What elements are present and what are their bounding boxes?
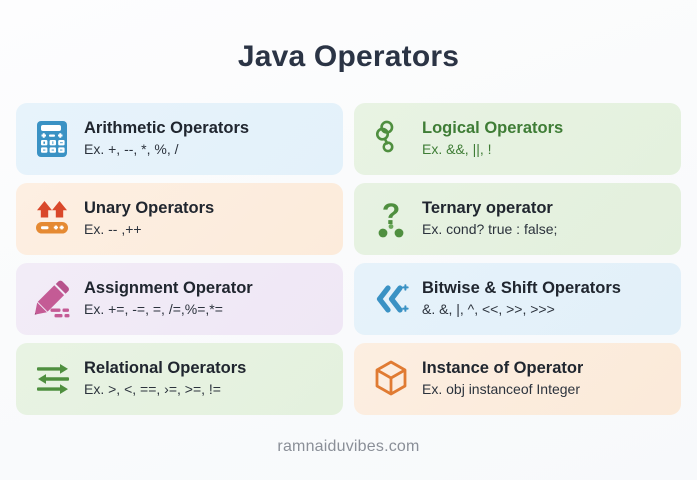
card-arithmetic-operators[interactable]: Arithmetic Operators Ex. +, --, *, %, / bbox=[16, 103, 343, 175]
card-example: Ex. +, --, *, %, / bbox=[84, 140, 249, 160]
double-chevron-left-icon bbox=[366, 273, 416, 325]
card-text: Bitwise & Shift Operators &. &, |, ^, <<… bbox=[416, 278, 621, 320]
exchange-arrows-icon bbox=[28, 353, 78, 405]
card-title: Unary Operators bbox=[84, 198, 214, 219]
card-title: Assignment Operator bbox=[84, 278, 253, 299]
card-unary-operators[interactable]: Unary Operators Ex. -- ,++ bbox=[16, 183, 343, 255]
card-example: Ex. obj instanceof Integer bbox=[422, 380, 583, 400]
card-ternary-operator[interactable]: ? Ternary operator Ex. cond? true : fals… bbox=[354, 183, 681, 255]
card-text: Ternary operator Ex. cond? true : false; bbox=[416, 198, 557, 240]
card-title: Relational Operators bbox=[84, 358, 246, 379]
card-text: Arithmetic Operators Ex. +, --, *, %, / bbox=[78, 118, 249, 160]
card-title: Bitwise & Shift Operators bbox=[422, 278, 621, 299]
card-text: Unary Operators Ex. -- ,++ bbox=[78, 198, 214, 240]
card-text: Assignment Operator Ex. +=, -=, =, /=,%=… bbox=[78, 278, 253, 320]
chain-link-icon bbox=[366, 113, 416, 165]
card-title: Logical Operators bbox=[422, 118, 563, 139]
card-example: Ex. >, <, ==, ›=, >=, != bbox=[84, 380, 246, 400]
infographic-poster: Java Operators bbox=[0, 0, 697, 480]
card-title: Arithmetic Operators bbox=[84, 118, 249, 139]
footer-site-url: ramnaiduvibes.com bbox=[0, 438, 697, 456]
card-text: Logical Operators Ex. &&, ||, ! bbox=[416, 118, 563, 160]
question-mark-branch-icon: ? bbox=[366, 193, 416, 245]
cube-icon bbox=[366, 353, 416, 405]
card-title: Instance of Operator bbox=[422, 358, 583, 379]
card-example: Ex. cond? true : false; bbox=[422, 220, 557, 240]
card-example: Ex. -- ,++ bbox=[84, 220, 214, 240]
double-up-arrow-icon bbox=[28, 193, 78, 245]
card-example: Ex. &&, ||, ! bbox=[422, 140, 563, 160]
card-relational-operators[interactable]: Relational Operators Ex. >, <, ==, ›=, >… bbox=[16, 343, 343, 415]
card-instance-of-operator[interactable]: Instance of Operator Ex. obj instanceof … bbox=[354, 343, 681, 415]
card-title: Ternary operator bbox=[422, 198, 557, 219]
card-text: Instance of Operator Ex. obj instanceof … bbox=[416, 358, 583, 400]
card-bitwise-shift-operators[interactable]: Bitwise & Shift Operators &. &, |, ^, <<… bbox=[354, 263, 681, 335]
pencil-icon bbox=[28, 273, 78, 325]
card-assignment-operator[interactable]: Assignment Operator Ex. +=, -=, =, /=,%=… bbox=[16, 263, 343, 335]
card-example: &. &, |, ^, <<, >>, >>> bbox=[422, 300, 621, 320]
card-text: Relational Operators Ex. >, <, ==, ›=, >… bbox=[78, 358, 246, 400]
operator-card-grid: Arithmetic Operators Ex. +, --, *, %, / … bbox=[16, 103, 681, 415]
calculator-icon bbox=[28, 113, 78, 165]
page-title: Java Operators bbox=[0, 40, 697, 74]
card-example: Ex. +=, -=, =, /=,%=,*= bbox=[84, 300, 253, 320]
card-logical-operators[interactable]: Logical Operators Ex. &&, ||, ! bbox=[354, 103, 681, 175]
